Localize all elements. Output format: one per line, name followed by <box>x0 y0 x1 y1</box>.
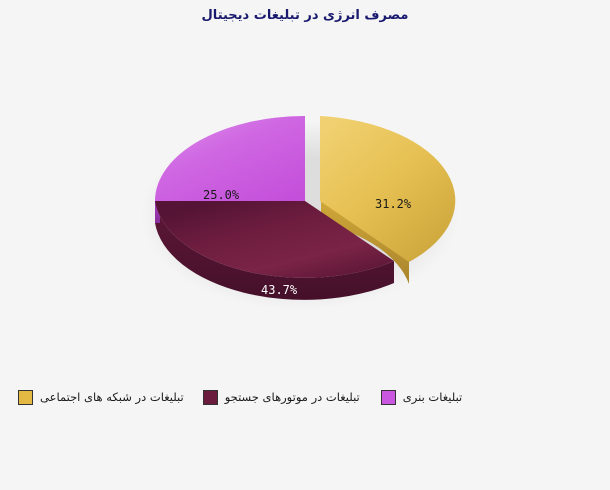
slice-label-search: 43.7% <box>261 283 297 297</box>
legend-item-search[interactable]: تبلیغات در موتورهای جستجو <box>203 390 367 405</box>
pie-chart-plot-area: 31.2% 43.7% 25.0% <box>0 40 610 360</box>
chart-legend: تبلیغات در شبکه های اجتماعی تبلیغات در م… <box>0 384 610 410</box>
slice-label-social: 31.2% <box>375 197 411 211</box>
pie-chart-svg <box>0 40 610 360</box>
legend-label-banner: تبلیغات بنری <box>403 390 463 404</box>
legend-swatch-social <box>18 390 33 405</box>
legend-swatch-search <box>203 390 218 405</box>
page-title: مصرف انرژی در تبلیغات دیجیتال <box>0 8 610 23</box>
legend-label-search: تبلیغات در موتورهای جستجو <box>225 390 360 404</box>
pie-bottom-artifact <box>288 319 330 333</box>
legend-item-social[interactable]: تبلیغات در شبکه های اجتماعی <box>18 390 191 405</box>
legend-swatch-banner <box>381 390 396 405</box>
legend-item-banner[interactable]: تبلیغات بنری <box>381 390 470 405</box>
slice-label-banner: 25.0% <box>203 188 239 202</box>
legend-label-social: تبلیغات در شبکه های اجتماعی <box>40 390 184 404</box>
